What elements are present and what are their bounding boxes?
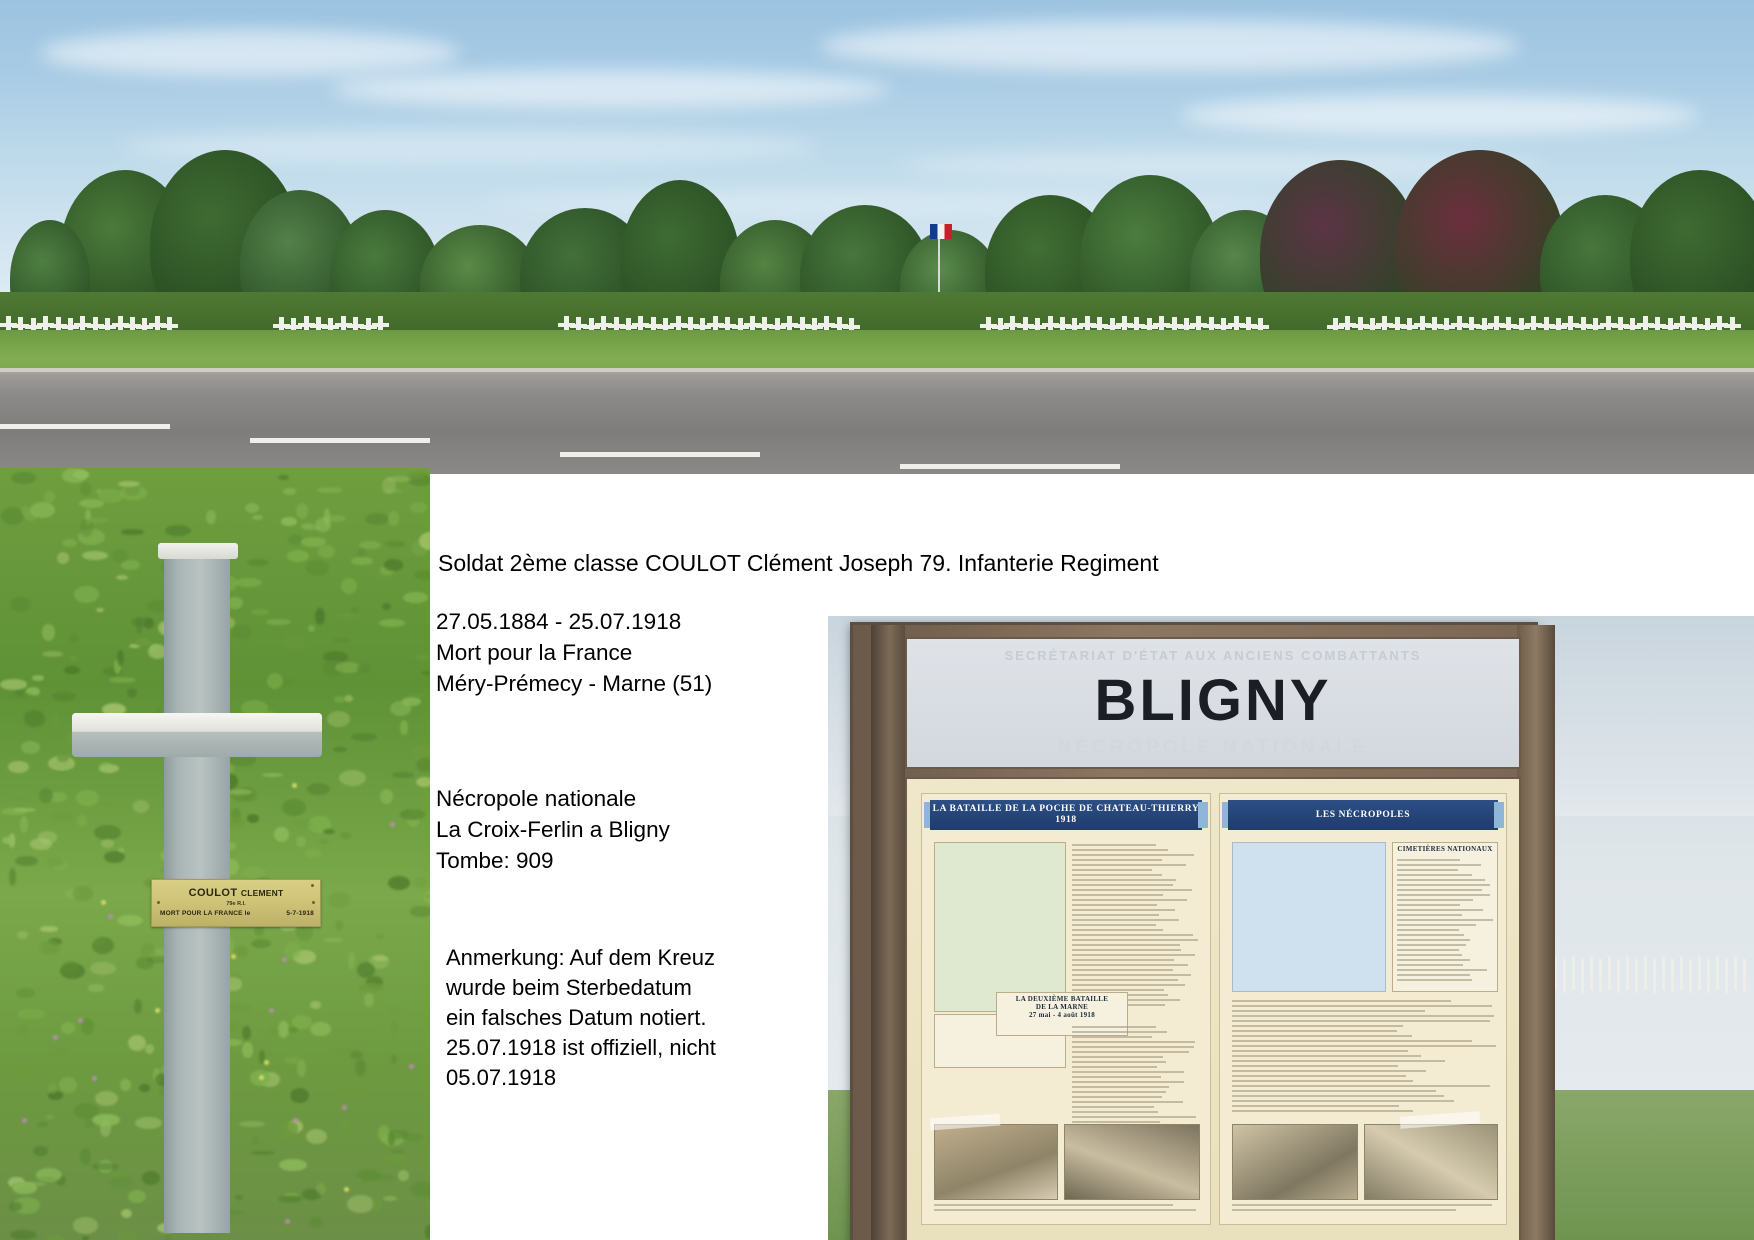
grass-tuft	[385, 541, 405, 547]
grave-plaque: COULOT CLEMENT 79e R.I. MORT POUR LA FRA…	[151, 879, 321, 927]
grass-tuft	[165, 525, 191, 536]
grass-tuft	[355, 1059, 366, 1076]
fence-post	[1689, 959, 1692, 993]
grass-tuft	[339, 770, 367, 786]
grass-tuft	[45, 1235, 67, 1240]
plaque-inscription-line: MORT POUR LA FRANCE le 5-7-1918	[160, 910, 314, 917]
panel-left-title: LA BATAILLE DE LA POCHE DE CHATEAU-THIER…	[930, 800, 1202, 830]
grass-tuft	[206, 510, 215, 524]
text-line	[1072, 1061, 1166, 1063]
headline: Soldat 2ème classe COULOT Clément Joseph…	[438, 548, 1159, 579]
text-line	[1072, 1076, 1161, 1078]
grass-tuft	[14, 797, 33, 802]
text-line	[1397, 879, 1485, 881]
fence-post	[1671, 959, 1674, 993]
board-title: BLIGNY	[907, 667, 1519, 734]
text-line	[1072, 934, 1193, 936]
text-line	[1072, 1046, 1194, 1048]
road-marking	[250, 438, 430, 443]
text-line	[1072, 949, 1181, 951]
grass-tuft	[340, 832, 351, 839]
cloud	[330, 70, 890, 108]
text-line	[1397, 869, 1458, 871]
text-line	[1397, 889, 1482, 891]
text-line	[1072, 1071, 1184, 1073]
text-line	[1232, 1040, 1472, 1042]
grass-tuft	[283, 488, 296, 496]
grass-tuft	[317, 487, 342, 492]
grass-tuft	[11, 472, 36, 484]
grass-tuft	[376, 934, 384, 938]
grass-tuft	[46, 1115, 54, 1119]
text-line	[1397, 939, 1470, 941]
text-line	[1072, 1066, 1157, 1068]
text-line	[1397, 969, 1487, 971]
grass-tuft	[333, 1046, 354, 1055]
wildflower	[409, 1064, 414, 1069]
text-line	[1072, 1026, 1156, 1028]
grass-tuft	[340, 1119, 351, 1130]
text-line	[1072, 1121, 1160, 1123]
memorial-collage: COULOT CLEMENT 79e R.I. MORT POUR LA FRA…	[0, 0, 1754, 1240]
board-post-left	[871, 625, 905, 1240]
grass-tuft	[333, 747, 348, 752]
text-line	[1397, 859, 1460, 861]
grass-tuft	[408, 693, 427, 698]
cloud	[820, 20, 1520, 72]
grass-tuft	[9, 868, 16, 886]
grass-tuft	[386, 1005, 401, 1014]
grass-tuft	[121, 529, 144, 534]
text-line	[1232, 1045, 1496, 1047]
grass-tuft	[33, 1146, 48, 1157]
text-line	[1397, 864, 1481, 866]
grass-tuft	[410, 502, 427, 514]
grass-tuft	[80, 482, 91, 496]
annotation-block: Anmerkung: Auf dem Kreuz wurde beim Ster…	[446, 943, 716, 1093]
grass-tuft	[296, 503, 308, 519]
fence-post	[1734, 956, 1737, 990]
text-line	[1232, 1090, 1436, 1092]
grass-tuft	[398, 1170, 409, 1181]
grass-tuft	[8, 761, 29, 772]
text-line	[1397, 944, 1466, 946]
grass-tuft	[413, 877, 428, 888]
text-line	[1072, 1096, 1162, 1098]
grass-tuft	[382, 603, 391, 610]
grass-tuft	[164, 1235, 171, 1240]
text-line	[1232, 1015, 1494, 1017]
cemetery-fence	[1554, 916, 1754, 1046]
road-marking	[560, 452, 760, 457]
text-line	[934, 1209, 1196, 1211]
text-line	[1397, 964, 1463, 966]
archive-photo	[1232, 1124, 1358, 1200]
grass-tuft	[414, 570, 430, 580]
fence-post	[1563, 959, 1566, 993]
panel-left-text	[1072, 842, 1200, 1012]
fence-post	[1635, 959, 1638, 993]
text-line	[1232, 1095, 1444, 1097]
grass-tuft	[379, 619, 405, 628]
board-header-plate: SECRÉTARIAT D'ÉTAT AUX ANCIENS COMBATTAN…	[905, 637, 1521, 769]
text-line	[1232, 1080, 1413, 1082]
french-flag-icon	[930, 224, 952, 239]
text-line	[1072, 884, 1173, 886]
grass-tuft	[410, 906, 430, 917]
grass-tuft	[351, 557, 373, 565]
grass-tuft	[344, 695, 354, 702]
text-line	[1072, 859, 1162, 861]
grass-tuft	[42, 624, 55, 641]
text-line	[1232, 1005, 1492, 1007]
text-line	[1397, 904, 1460, 906]
text-line	[934, 1204, 1173, 1206]
text-line	[1232, 1025, 1403, 1027]
text-line	[1397, 949, 1459, 951]
text-line	[1072, 979, 1178, 981]
text-line	[1397, 899, 1473, 901]
map-necropoles	[1232, 842, 1386, 992]
text-line	[1397, 974, 1470, 976]
grass-tuft	[57, 552, 69, 564]
grass-tuft	[89, 518, 108, 523]
grass-tuft	[222, 522, 230, 533]
text-line	[1072, 1106, 1154, 1108]
grass-tuft	[354, 1178, 362, 1183]
life-dates-block: 27.05.1884 - 25.07.1918 Mort pour la Fra…	[436, 606, 712, 699]
table-cimetieres-nationaux: CIMETIÈRES NATIONAUX	[1392, 842, 1498, 992]
fence-post	[1662, 956, 1665, 990]
text-line	[1072, 1101, 1183, 1103]
text-line	[1072, 959, 1174, 961]
text-line	[1072, 939, 1198, 941]
text-line	[1072, 1086, 1169, 1088]
text-line	[1072, 899, 1187, 901]
grass-tuft	[301, 523, 314, 529]
plaque-inscription: MORT POUR LA FRANCE le	[160, 910, 250, 917]
cross-arm-top	[72, 713, 322, 729]
grass-tuft	[348, 952, 356, 969]
grass-tuft	[32, 675, 44, 681]
fence-post	[1626, 956, 1629, 990]
cross-top-cap	[158, 543, 238, 559]
grass-tuft	[245, 503, 258, 514]
archive-photo	[1364, 1124, 1498, 1200]
board-body: LA BATAILLE DE LA POCHE DE CHATEAU-THIER…	[905, 777, 1521, 1240]
text-line	[1072, 849, 1168, 851]
text-line	[1397, 934, 1464, 936]
text-line	[1072, 1116, 1196, 1118]
grass-tuft	[358, 548, 365, 556]
text-line	[1397, 929, 1459, 931]
text-line	[1232, 1030, 1397, 1032]
grass-tuft	[278, 475, 289, 480]
grass-tuft	[62, 468, 88, 483]
grass-tuft	[98, 489, 123, 503]
board-subtitle-bottom: NÉCROPOLE NATIONALE	[907, 737, 1519, 759]
text-line	[1232, 1060, 1445, 1062]
plaque-given-name: CLEMENT	[241, 888, 283, 898]
grass-tuft	[0, 679, 27, 689]
grass-tuft	[16, 988, 36, 998]
grass-tuft	[53, 713, 59, 728]
fence-post	[1581, 959, 1584, 993]
grass-tuft	[392, 772, 414, 778]
fence-post	[1680, 956, 1683, 990]
fence-post	[1599, 959, 1602, 993]
text-line	[1232, 1020, 1490, 1022]
text-line	[1072, 969, 1173, 971]
grass-tuft	[30, 838, 53, 850]
grass-tuft	[50, 813, 74, 821]
grass-tuft	[40, 940, 59, 955]
grass-tuft	[323, 938, 342, 942]
fence-post	[1608, 956, 1611, 990]
panel-right-title: LES NÉCROPOLES	[1228, 800, 1498, 830]
grass-tuft	[410, 1181, 430, 1197]
road-marking	[900, 464, 1120, 469]
plaque-surname: COULOT	[189, 887, 238, 899]
plaque-name-line: COULOT CLEMENT	[152, 887, 320, 899]
grass-tuft	[402, 697, 421, 706]
text-line	[1397, 909, 1483, 911]
text-line	[1232, 1070, 1426, 1072]
grass-tuft	[252, 515, 264, 521]
wildflower	[390, 822, 395, 827]
grass-tuft	[388, 876, 410, 890]
text-line	[1072, 944, 1180, 946]
grass-tuft	[384, 559, 404, 570]
grass-tuft	[365, 513, 390, 525]
text-line	[1397, 979, 1472, 981]
text-line	[1072, 854, 1194, 856]
photo-grave-cross: COULOT CLEMENT 79e R.I. MORT POUR LA FRA…	[0, 468, 430, 1240]
grass-tuft	[334, 613, 361, 618]
grass-tuft	[388, 511, 399, 525]
grass-tuft	[384, 1154, 406, 1162]
fence-post	[1590, 956, 1593, 990]
wildflower	[342, 1105, 347, 1110]
grass-tuft	[79, 499, 103, 508]
text-line	[1072, 1031, 1167, 1033]
fence-post	[1617, 959, 1620, 993]
text-line	[1072, 1111, 1158, 1113]
grass-tuft	[342, 1085, 364, 1092]
grass-tuft	[16, 1024, 29, 1036]
text-line	[1397, 894, 1490, 896]
grass-tuft	[80, 519, 93, 537]
cloud	[1180, 95, 1700, 135]
fence-post	[1572, 956, 1575, 990]
text-line	[1397, 884, 1490, 886]
road	[0, 368, 1754, 474]
text-line	[1397, 914, 1462, 916]
grass-tuft	[37, 1122, 48, 1128]
text-line	[1232, 1055, 1421, 1057]
plaque-date: 5-7-1918	[286, 910, 314, 917]
text-line	[1232, 1204, 1492, 1206]
table-rows	[1397, 857, 1493, 987]
text-line	[1232, 1100, 1454, 1102]
grass-tuft	[42, 651, 63, 657]
text-line	[1072, 924, 1156, 926]
text-line	[1232, 1075, 1406, 1077]
wildflower	[344, 1187, 349, 1192]
text-line	[1072, 974, 1191, 976]
text-line	[1232, 1035, 1412, 1037]
text-line	[1072, 984, 1185, 986]
grass-tuft	[419, 532, 430, 550]
grass-tuft	[281, 517, 297, 525]
grass-tuft	[380, 789, 393, 804]
grass-tuft	[10, 597, 31, 612]
grass-tuft	[20, 816, 28, 833]
text-line	[1232, 1000, 1451, 1002]
text-line	[1072, 869, 1152, 871]
grass-tuft	[2, 837, 14, 845]
grass-tuft	[57, 754, 69, 762]
grass-tuft	[24, 710, 45, 726]
fence-post	[1743, 959, 1746, 993]
grass-tuft	[403, 592, 428, 603]
text-line	[1072, 879, 1176, 881]
fence-post	[1725, 959, 1728, 993]
grass-tuft	[341, 578, 357, 594]
grass-tuft	[391, 1020, 397, 1037]
board-panel-right: LES NÉCROPOLES CIMETIÈRES NATIONAUX	[1219, 793, 1507, 1225]
panel-left-text-2	[1072, 1024, 1200, 1134]
photo-captions	[934, 1202, 1198, 1216]
text-line	[1072, 1091, 1166, 1093]
text-line	[1232, 1010, 1425, 1012]
text-line	[1397, 954, 1462, 956]
text-line	[1397, 924, 1476, 926]
map-caption-text: LA DEUXIÈME BATAILLE DE LA MARNE 27 mai …	[997, 993, 1127, 1019]
grass-tuft	[334, 696, 345, 702]
grass-tuft	[415, 654, 429, 662]
grass-tuft	[357, 664, 371, 674]
photo-info-board: SECRÉTARIAT D'ÉTAT AUX ANCIENS COMBATTAN…	[828, 616, 1754, 1240]
grass-tuft	[416, 758, 430, 772]
grass-tuft	[333, 638, 350, 643]
grass-tuft	[17, 931, 28, 939]
grass-tuft	[383, 1196, 397, 1201]
text-line	[1072, 1041, 1195, 1043]
text-line	[1072, 919, 1179, 921]
grass-tuft	[315, 518, 331, 532]
text-line	[1072, 929, 1163, 931]
grass-tuft	[7, 693, 35, 699]
fence-post	[1716, 956, 1719, 990]
grass-tuft	[372, 1198, 382, 1211]
board-post-right	[1517, 625, 1555, 1240]
text-line	[1072, 1081, 1184, 1083]
board-frame: SECRÉTARIAT D'ÉTAT AUX ANCIENS COMBATTAN…	[850, 622, 1538, 1240]
plaque-regiment: 79e R.I.	[152, 901, 320, 907]
grass-tuft	[408, 471, 426, 478]
grass-tuft	[9, 1202, 22, 1210]
text-line	[1397, 874, 1472, 876]
text-line	[1232, 1085, 1490, 1087]
archive-photo	[1064, 1124, 1200, 1200]
text-line	[1072, 909, 1175, 911]
grass-tuft	[40, 926, 58, 931]
text-line	[1397, 919, 1493, 921]
grass-tuft	[82, 1236, 88, 1240]
grass-tuft	[351, 733, 377, 741]
text-line	[1072, 1036, 1152, 1038]
cloud	[40, 30, 460, 76]
fence-post	[1707, 959, 1710, 993]
grass-tuft	[48, 1083, 56, 1094]
text-line	[1072, 864, 1186, 866]
board-subtitle-top: SECRÉTARIAT D'ÉTAT AUX ANCIENS COMBATTAN…	[907, 648, 1519, 663]
text-line	[1072, 989, 1164, 991]
text-line	[1072, 844, 1156, 846]
grass-tuft	[55, 1048, 67, 1057]
text-line	[1072, 1051, 1189, 1053]
text-line	[1232, 1050, 1408, 1052]
archive-photo	[934, 1124, 1058, 1200]
grass-tuft	[30, 502, 55, 519]
photo-captions	[1232, 1202, 1496, 1216]
fence-post	[1698, 956, 1701, 990]
grass-tuft	[327, 711, 350, 728]
table-title: CIMETIÈRES NATIONAUX	[1393, 843, 1497, 853]
grass-tuft	[364, 993, 375, 1007]
text-line	[1232, 1209, 1456, 1211]
grass-tuft	[335, 920, 342, 931]
fence-post	[1653, 959, 1656, 993]
grass-tuft	[373, 956, 388, 961]
grass-tuft	[416, 777, 430, 787]
text-line	[1072, 904, 1157, 906]
photo-cemetery-roadside	[0, 0, 1754, 474]
grass-tuft	[359, 541, 381, 549]
grass-tuft	[18, 1009, 45, 1018]
text-line	[1072, 894, 1163, 896]
grass-tuft	[9, 1063, 35, 1077]
necropolis-block: Nécropole nationale La Croix-Ferlin a Bl…	[436, 783, 670, 876]
grass-tuft	[328, 892, 350, 908]
text-line	[1232, 1105, 1399, 1107]
map-bataille	[934, 842, 1066, 1012]
panel-right-text	[1232, 998, 1496, 1118]
fence-post	[1644, 956, 1647, 990]
grass-tuft	[323, 829, 334, 834]
text-line	[1072, 1056, 1163, 1058]
road-edge	[0, 368, 1754, 372]
text-line	[1232, 1110, 1413, 1112]
grass-tuft	[391, 1054, 397, 1065]
grass-tuft	[400, 809, 425, 820]
text-line	[1072, 889, 1192, 891]
road-marking	[0, 424, 170, 429]
text-line	[1072, 914, 1159, 916]
grave-cross: COULOT CLEMENT 79e R.I. MORT POUR LA FRA…	[72, 543, 322, 1233]
text-line	[1072, 964, 1188, 966]
text-line	[1232, 1065, 1398, 1067]
text-line	[1072, 954, 1195, 956]
grass-tuft	[421, 671, 430, 675]
wildflower	[22, 1118, 27, 1123]
grass-tuft	[400, 720, 408, 736]
grass-tuft	[347, 1195, 373, 1213]
grass-tuft	[10, 1230, 37, 1240]
grass-tuft	[358, 983, 384, 992]
wildflower	[53, 1035, 58, 1040]
